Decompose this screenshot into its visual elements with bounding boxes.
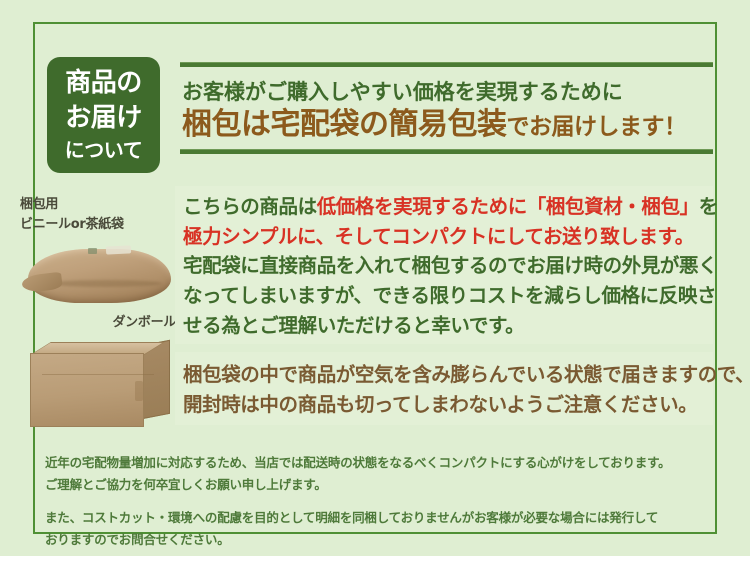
primary-message-panel: こちらの商品は低価格を実現するために「梱包資材・梱包」を 極力シンプルに、そして…	[175, 186, 713, 344]
badge-line-1: 商品の	[47, 66, 160, 101]
primary-line-1: こちらの商品は低価格を実現するために「梱包資材・梱包」を	[183, 192, 705, 222]
cardboard-box-illustration	[20, 339, 180, 435]
box-flap-line	[42, 374, 154, 375]
caution-line-1: 梱包袋の中で商品が空気を含み膨らんでいる状態で届きますので、	[183, 360, 705, 390]
kraft-bag-illustration	[20, 241, 180, 313]
footer-notes: 近年の宅配物量増加に対応するため、当店では配送時の状態をなるべくコンパクトにする…	[45, 452, 710, 551]
header-headline: 梱包は宅配袋の簡易包装でお届けします！	[182, 108, 713, 143]
box-front-face	[30, 353, 144, 427]
caution-message-panel: 梱包袋の中で商品が空気を含み膨らんでいる状態で届きますので、 開封時は中の商品も…	[175, 352, 713, 425]
header-block: お客様がご購入しやすい価格を実現するために 梱包は宅配袋の簡易包装でお届けします…	[180, 62, 713, 154]
badge-line-3: について	[47, 136, 160, 164]
header-rule-top	[180, 62, 713, 67]
footer-para1-line2: ご理解とご協力を何卒宜しくお願い申し上げます。	[45, 474, 710, 496]
box-label-line-1: ダンボール	[20, 313, 180, 333]
illustration-column: 梱包用 ビニールor茶紙袋 ダンボール	[20, 195, 180, 435]
footer-para2-line1: また、コストカット・環境への配慮を目的として明細を同梱しておりませんがお客様が必…	[45, 507, 710, 529]
primary-line-1-post: を	[699, 195, 718, 218]
bag-print-mark	[88, 248, 97, 254]
bag-label-line-1: 梱包用	[20, 195, 180, 215]
headline-emphasis: 梱包は宅配袋の簡易包装	[182, 107, 507, 142]
section-badge: 商品の お届け について	[47, 57, 160, 173]
header-rule-bottom	[180, 149, 713, 154]
bag-crease	[50, 280, 162, 287]
primary-line-3: 宅配袋に直接商品を入れて梱包するのでお届け時の外見が悪く	[183, 251, 705, 281]
bag-label-line-2: ビニールor茶紙袋	[20, 215, 180, 235]
header-subtitle: お客様がご購入しやすい価格を実現するために	[182, 76, 713, 106]
badge-line-2: お届け	[47, 101, 160, 136]
headline-tail: でお届けします！	[507, 114, 687, 140]
primary-line-2-highlight: 極力シンプルに、そしてコンパクトにしてお送り致します。	[183, 225, 694, 248]
box-seam	[135, 381, 143, 401]
primary-line-4: なってしまいますが、できる限りコストを減らし価格に反映さ	[183, 281, 705, 311]
bag-tape-strip	[106, 246, 131, 255]
poster-canvas: 商品の お届け について お客様がご購入しやすい価格を実現するために 梱包は宅配…	[0, 0, 750, 556]
caution-line-2: 開封時は中の商品も切ってしまわないようご注意ください。	[183, 390, 705, 420]
primary-line-5: せる為とご理解いただけると幸いです。	[183, 311, 705, 341]
footer-para1-line1: 近年の宅配物量増加に対応するため、当店では配送時の状態をなるべくコンパクトにする…	[45, 452, 710, 474]
footer-para2-line2: おりますのでお問合せください。	[45, 529, 710, 551]
primary-line-1-pre: こちらの商品は	[183, 195, 317, 218]
primary-line-1-highlight: 低価格を実現するために「梱包資材・梱包」	[317, 195, 699, 218]
primary-line-2: 極力シンプルに、そしてコンパクトにしてお送り致します。	[183, 222, 705, 252]
